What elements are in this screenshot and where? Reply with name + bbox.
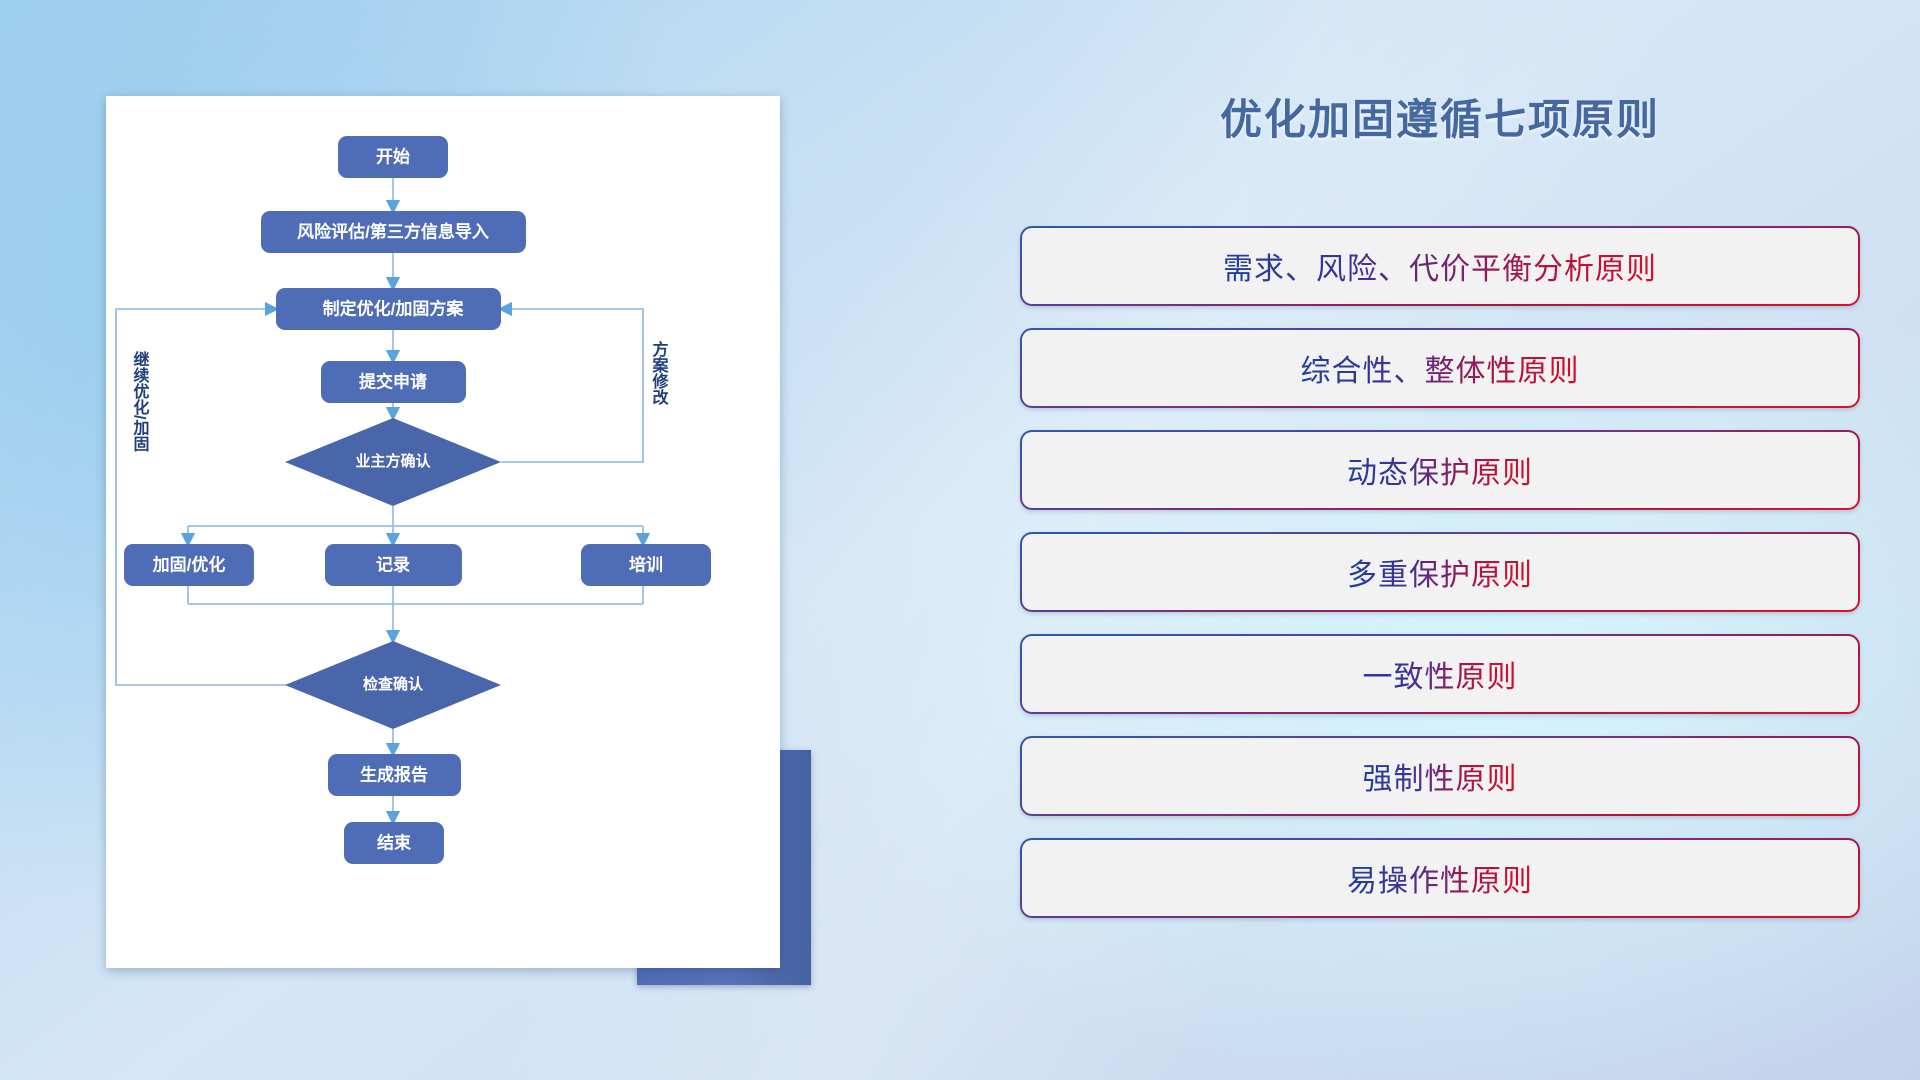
flow-node-label: 提交申请: [359, 371, 427, 391]
list-item[interactable]: 一致性原则: [1020, 634, 1860, 714]
list-item[interactable]: 强制性原则: [1020, 736, 1860, 816]
flowchart: 开始 风险评估/第三方信息导入 制定优化/加固方案 提交申请 业主方确认 加固/…: [106, 96, 780, 968]
flow-node-label: 生成报告: [360, 764, 428, 784]
flow-edge-label-revise: 方案修改: [650, 340, 670, 406]
flow-node-report[interactable]: 生成报告: [328, 754, 461, 796]
list-item-label: 动态保护原则: [1347, 448, 1533, 492]
principles-list: 需求、风险、代价平衡分析原则 综合性、整体性原则 动态保护原则 多重保护原则 一…: [1020, 226, 1860, 940]
flow-node-training[interactable]: 培训: [581, 544, 711, 586]
list-item-inner: 强制性原则: [1022, 738, 1858, 814]
list-item[interactable]: 多重保护原则: [1020, 532, 1860, 612]
flow-node-end[interactable]: 结束: [344, 822, 444, 864]
flow-node-label: 培训: [629, 554, 663, 574]
list-item-label: 综合性、整体性原则: [1301, 346, 1580, 390]
page-title: 优化加固遵循七项原则: [1020, 86, 1860, 147]
flow-node-label: 业主方确认: [355, 452, 431, 470]
flow-node-label: 加固/优化: [152, 554, 226, 574]
list-item-label: 强制性原则: [1363, 754, 1518, 798]
list-item-inner: 需求、风险、代价平衡分析原则: [1022, 228, 1858, 304]
flow-node-label: 结束: [377, 832, 411, 852]
list-item-inner: 多重保护原则: [1022, 534, 1858, 610]
list-item-inner: 易操作性原则: [1022, 840, 1858, 916]
list-item-inner: 动态保护原则: [1022, 432, 1858, 508]
flow-node-submit[interactable]: 提交申请: [321, 361, 466, 403]
flow-node-start[interactable]: 开始: [338, 136, 448, 178]
flow-node-label: 风险评估/第三方信息导入: [297, 221, 489, 241]
flow-node-label: 制定优化/加固方案: [323, 298, 465, 318]
principles-panel: 优化加固遵循七项原则 需求、风险、代价平衡分析原则 综合性、整体性原则 动态保护…: [1020, 86, 1860, 1006]
list-item-label: 多重保护原则: [1347, 550, 1533, 594]
flow-node-owner-check[interactable]: 业主方确认: [285, 418, 501, 506]
flow-edge-label-continue: 继续优化/加固: [131, 350, 151, 452]
list-item-inner: 综合性、整体性原则: [1022, 330, 1858, 406]
flow-node-reinforce[interactable]: 加固/优化: [124, 544, 254, 586]
flow-node-risk[interactable]: 风险评估/第三方信息导入: [261, 211, 526, 253]
flow-node-plan[interactable]: 制定优化/加固方案: [276, 288, 501, 330]
flow-node-label: 检查确认: [363, 675, 424, 693]
flow-node-label: 开始: [376, 146, 410, 166]
list-item[interactable]: 需求、风险、代价平衡分析原则: [1020, 226, 1860, 306]
flow-node-label: 记录: [376, 555, 410, 574]
list-item[interactable]: 动态保护原则: [1020, 430, 1860, 510]
flow-node-inspect[interactable]: 检查确认: [285, 641, 501, 729]
list-item-inner: 一致性原则: [1022, 636, 1858, 712]
list-item-label: 一致性原则: [1363, 652, 1518, 696]
list-item[interactable]: 易操作性原则: [1020, 838, 1860, 918]
list-item-label: 易操作性原则: [1347, 856, 1533, 900]
list-item[interactable]: 综合性、整体性原则: [1020, 328, 1860, 408]
list-item-label: 需求、风险、代价平衡分析原则: [1223, 244, 1657, 288]
flow-node-record[interactable]: 记录: [325, 544, 462, 586]
